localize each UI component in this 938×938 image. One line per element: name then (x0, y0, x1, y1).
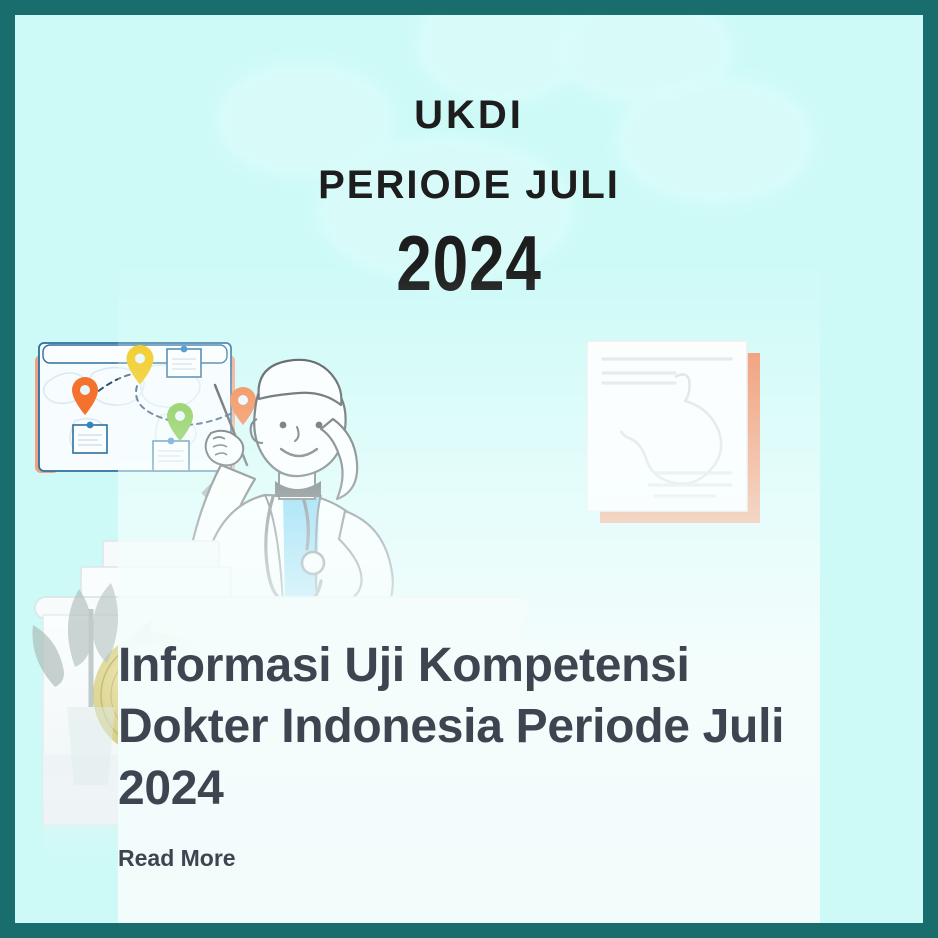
desk-books (81, 541, 231, 601)
article-headline: Informasi Uji Kompetensi Dokter Indonesi… (118, 635, 818, 819)
read-more-link[interactable]: Read More (118, 845, 236, 872)
anatomy-poster (587, 341, 760, 523)
board-note (153, 438, 189, 471)
banner-year: 2024 (97, 218, 842, 309)
slide-frame: UKDI PERIODE JULI 2024 (0, 0, 938, 938)
slide-stage: UKDI PERIODE JULI 2024 (15, 15, 923, 923)
board-note (167, 346, 201, 377)
banner-line-2: PERIODE JULI (15, 163, 923, 208)
banner-line-1: UKDI (15, 93, 923, 138)
board-note (73, 422, 107, 453)
article-card: Informasi Uji Kompetensi Dokter Indonesi… (118, 635, 818, 872)
